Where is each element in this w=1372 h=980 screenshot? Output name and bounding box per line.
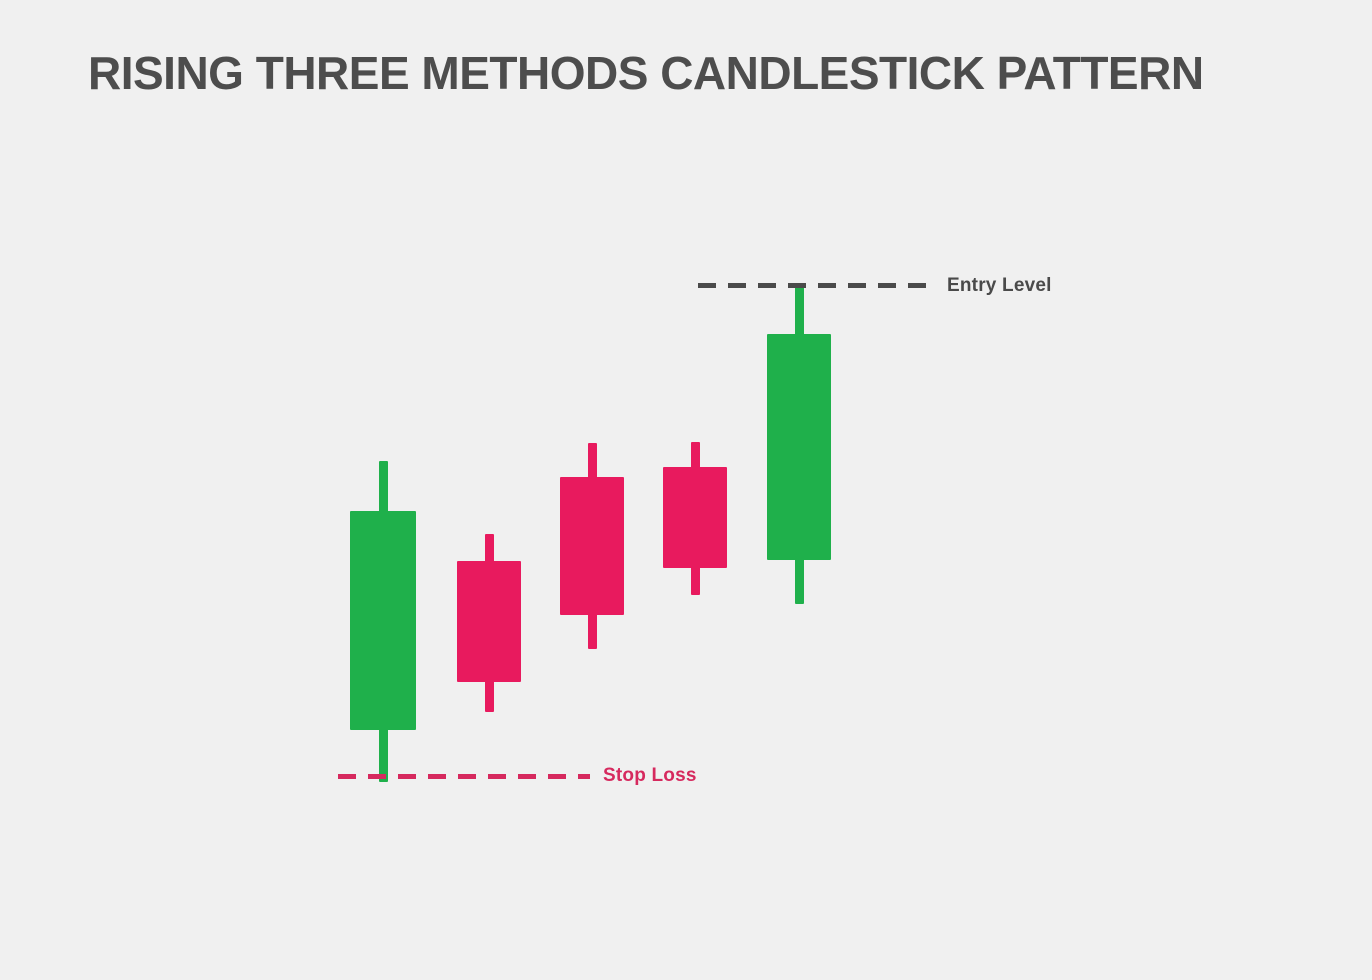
candle-4-body [663,467,727,568]
candle-1-body [350,511,416,730]
chart-canvas: RISING THREE METHODS CANDLESTICK PATTERN… [0,0,1372,980]
candle-5-body [767,334,831,560]
entry-level-label: Entry Level [947,275,1052,297]
candle-3-body [560,477,624,615]
candle-2-body [457,561,521,682]
stop-loss-line [338,774,590,779]
entry-level-line [698,283,934,288]
page-title: RISING THREE METHODS CANDLESTICK PATTERN [88,48,1288,99]
stop-loss-label: Stop Loss [603,765,697,787]
